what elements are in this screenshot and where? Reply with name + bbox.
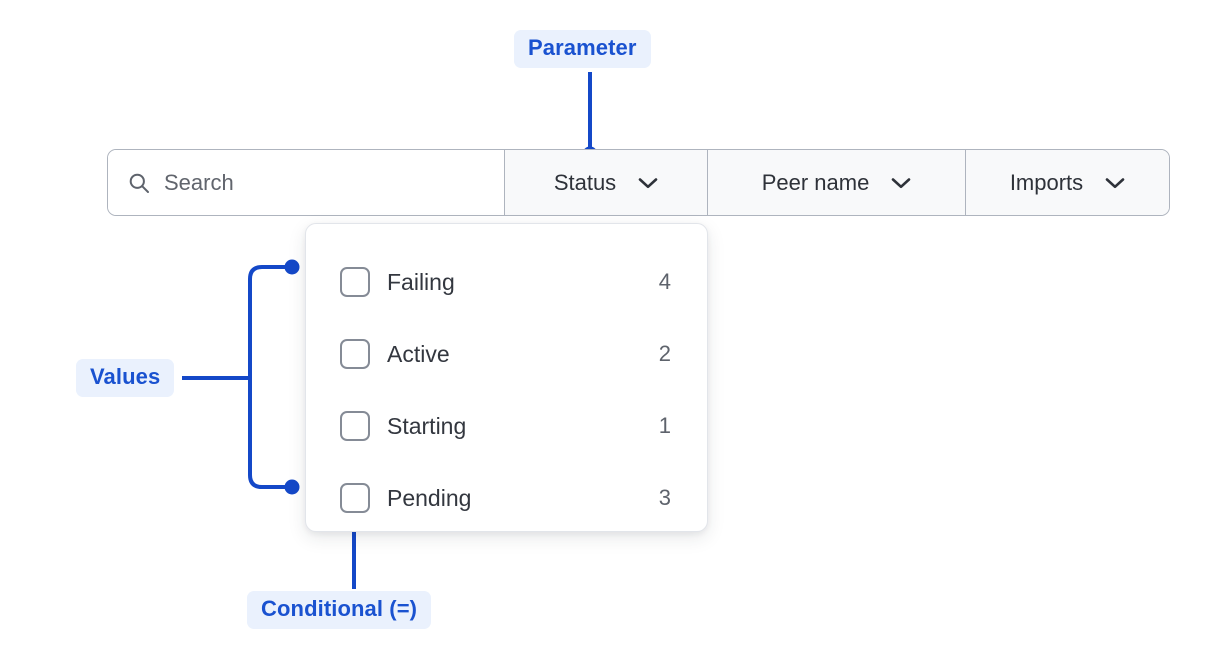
dropdown-option-active[interactable]: Active 2 bbox=[306, 318, 707, 390]
search-input-placeholder[interactable]: Search bbox=[164, 172, 234, 194]
dropdown-option-label: Failing bbox=[387, 271, 659, 294]
filter-button-imports[interactable]: Imports bbox=[966, 150, 1169, 215]
annotated-filter-ui: Parameter Values Conditional (=) Search … bbox=[0, 0, 1224, 660]
filter-label-status: Status bbox=[554, 172, 616, 194]
filter-toolbar: Search Status Peer name Imports bbox=[107, 149, 1170, 216]
values-bracket bbox=[250, 267, 292, 487]
values-connector-dot-top bbox=[285, 260, 300, 275]
filter-button-status[interactable]: Status bbox=[505, 150, 708, 215]
checkbox-active[interactable] bbox=[340, 339, 370, 369]
filter-label-imports: Imports bbox=[1010, 172, 1083, 194]
dropdown-option-label: Starting bbox=[387, 415, 659, 438]
chevron-down-icon bbox=[1105, 177, 1125, 189]
status-filter-dropdown: Failing 4 Active 2 Starting 1 Pending 3 bbox=[305, 223, 708, 532]
annotation-badge-values: Values bbox=[76, 359, 174, 397]
checkbox-failing[interactable] bbox=[340, 267, 370, 297]
dropdown-option-pending[interactable]: Pending 3 bbox=[306, 462, 707, 534]
search-field[interactable]: Search bbox=[108, 150, 505, 215]
dropdown-option-starting[interactable]: Starting 1 bbox=[306, 390, 707, 462]
annotation-badge-parameter: Parameter bbox=[514, 30, 651, 68]
dropdown-option-count: 2 bbox=[659, 343, 671, 365]
values-connector-dot-bottom bbox=[285, 480, 300, 495]
filter-button-peer-name[interactable]: Peer name bbox=[708, 150, 966, 215]
dropdown-option-label: Pending bbox=[387, 487, 659, 510]
filter-label-peer-name: Peer name bbox=[762, 172, 870, 194]
chevron-down-icon bbox=[638, 177, 658, 189]
dropdown-option-label: Active bbox=[387, 343, 659, 366]
dropdown-option-count: 4 bbox=[659, 271, 671, 293]
checkbox-pending[interactable] bbox=[340, 483, 370, 513]
annotation-badge-conditional: Conditional (=) bbox=[247, 591, 431, 629]
dropdown-option-failing[interactable]: Failing 4 bbox=[306, 246, 707, 318]
dropdown-option-count: 1 bbox=[659, 415, 671, 437]
checkbox-starting[interactable] bbox=[340, 411, 370, 441]
dropdown-option-count: 3 bbox=[659, 487, 671, 509]
chevron-down-icon bbox=[891, 177, 911, 189]
search-icon bbox=[128, 172, 150, 194]
